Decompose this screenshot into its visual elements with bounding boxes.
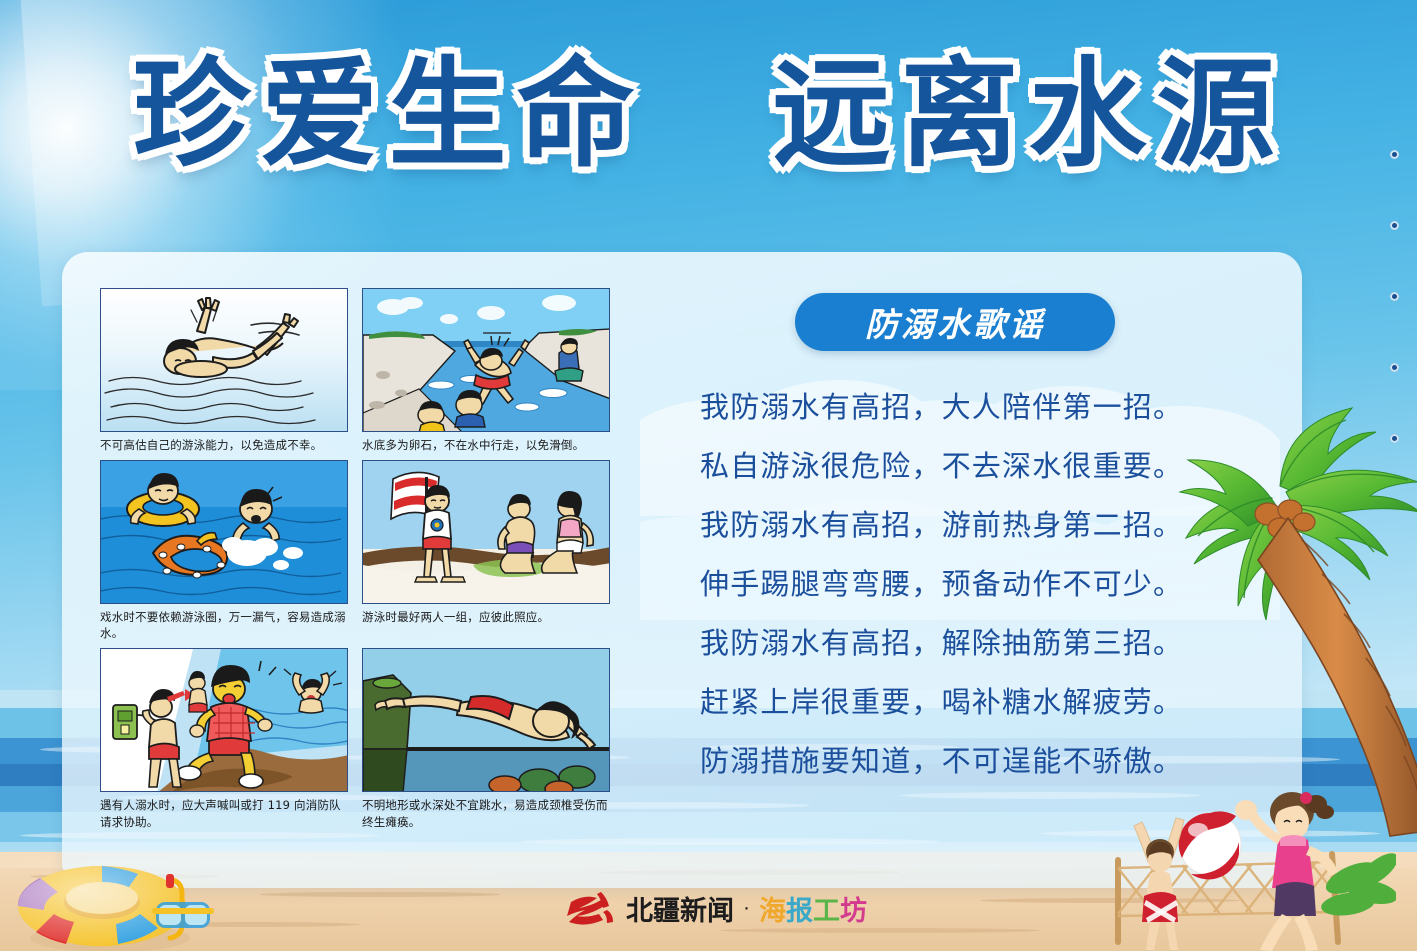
- beach-ball: [1179, 811, 1241, 879]
- verse-line: 我防溺水有高招，游前热身第二招。: [700, 496, 1245, 555]
- water-safety-poster: 珍爱生命 远离水源: [0, 0, 1417, 951]
- comic-illustration-no-diving-unknown-depth: [362, 648, 610, 792]
- publisher-logo: 北疆新闻 · 海报工坊: [567, 884, 857, 932]
- logo-separator: ·: [743, 896, 750, 920]
- rivet-dot: [1390, 292, 1399, 301]
- comic-illustration-swim-ring-leak: [100, 460, 348, 604]
- rivet-dot: [1390, 221, 1399, 230]
- rivet-dot: [1390, 363, 1399, 372]
- comic-caption: 不明地形或水深处不宜跳水，易造成颈椎受伤而终生瘫痪。: [362, 797, 612, 830]
- comic-illustration-swim-in-pairs: [362, 460, 610, 604]
- comic-caption: 不可高估自己的游泳能力，以免造成不幸。: [100, 437, 350, 454]
- verse-line: 我防溺水有高招，解除抽筋第三招。: [700, 614, 1245, 673]
- safety-comic-grid: 不可高估自己的游泳能力，以免造成不幸。: [100, 288, 620, 830]
- comic-cell: 游泳时最好两人一组，应彼此照应。: [362, 460, 612, 642]
- verse-list: 我防溺水有高招，大人陪伴第一招。 私自游泳很危险，不去深水很重要。 我防溺水有高…: [700, 378, 1245, 791]
- rivet-dot: [1390, 150, 1399, 159]
- comic-illustration-pebble-riverbed: [362, 288, 610, 432]
- verse-line: 伸手踢腿弯弯腰，预备动作不可少。: [700, 555, 1245, 614]
- page-title: 珍爱生命 远离水源: [0, 48, 1417, 180]
- section-badge-label: 防溺水歌谣: [795, 293, 1115, 351]
- comic-caption: 游泳时最好两人一组，应彼此照应。: [362, 609, 612, 626]
- comic-illustration-call-119-for-help: [100, 648, 348, 792]
- logo-mark-icon: [567, 888, 617, 928]
- logo-char-1: 海: [759, 896, 786, 927]
- comic-cell: 水底多为卵石，不在水中行走，以免滑倒。: [362, 288, 612, 454]
- swim-ring-decoration: [6, 846, 216, 951]
- comic-caption: 水底多为卵石，不在水中行走，以免滑倒。: [362, 437, 612, 454]
- comic-caption: 戏水时不要依赖游泳圈，万一漏气，容易造成溺水。: [100, 609, 350, 642]
- verse-line: 我防溺水有高招，大人陪伴第一招。: [700, 378, 1245, 437]
- logo-primary-text: 北疆新闻: [626, 889, 734, 928]
- logo-char-4: 坊: [840, 896, 867, 927]
- comic-cell: 不可高估自己的游泳能力，以免造成不幸。: [100, 288, 350, 454]
- comic-cell: 不明地形或水深处不宜跳水，易造成颈椎受伤而终生瘫痪。: [362, 648, 612, 830]
- verse-line: 私自游泳很危险，不去深水很重要。: [700, 437, 1245, 496]
- logo-secondary-text: 海报工坊: [759, 889, 867, 928]
- comic-cell: 戏水时不要依赖游泳圈，万一漏气，容易造成溺水。: [100, 460, 350, 642]
- verse-line: 赶紧上岸很重要，喝补糖水解疲劳。: [700, 673, 1245, 732]
- comic-illustration-overestimate-swimming: [100, 288, 348, 432]
- section-badge: 防溺水歌谣: [795, 293, 1115, 351]
- comic-caption: 遇有人溺水时，应大声喊叫或打 119 向消防队请求协助。: [100, 797, 350, 830]
- beach-volleyball-scene: [1096, 782, 1396, 951]
- logo-char-3: 工: [813, 896, 840, 927]
- logo-char-2: 报: [786, 896, 813, 927]
- comic-cell: 遇有人溺水时，应大声喊叫或打 119 向消防队请求协助。: [100, 648, 350, 830]
